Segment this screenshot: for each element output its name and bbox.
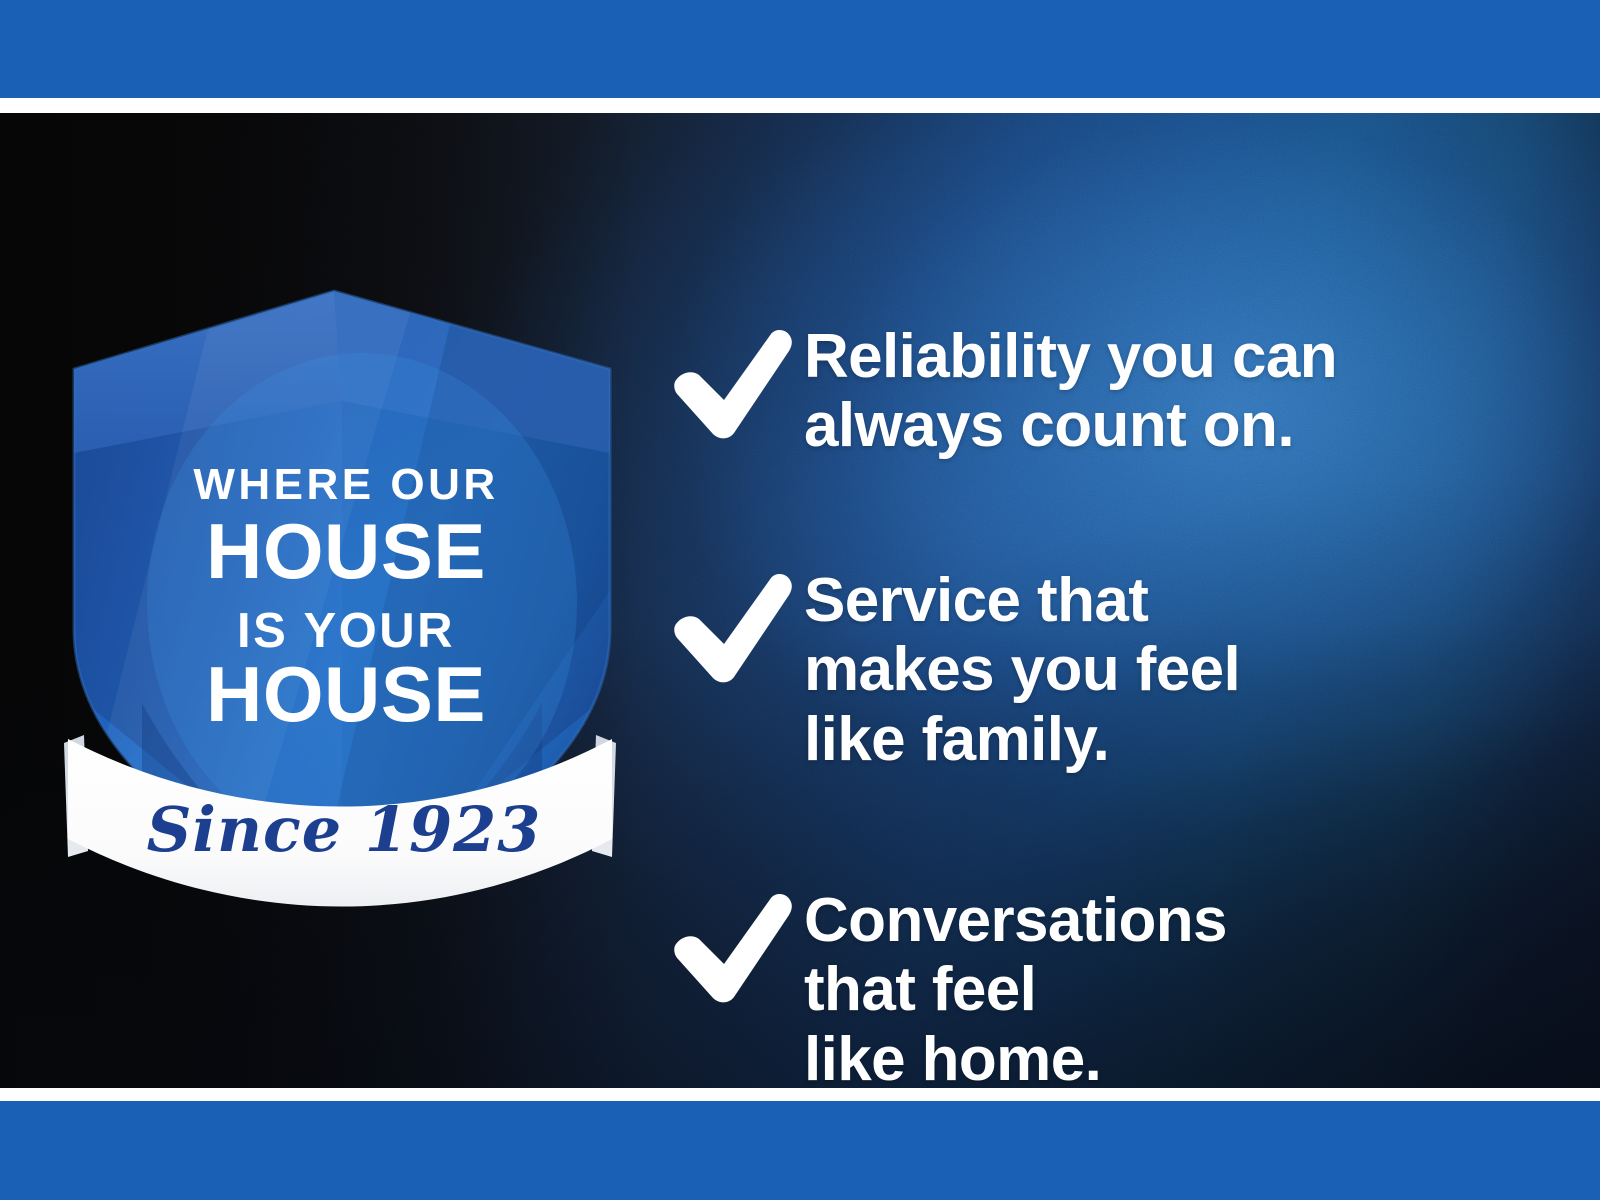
list-item-label: Conversations that feel like home. xyxy=(804,886,1532,1088)
checkmark-icon xyxy=(672,322,804,440)
list-item-label: Reliability you can always count on. xyxy=(804,322,1532,461)
list-item: Conversations that feel like home. xyxy=(672,886,1532,1088)
promo-poster: WHERE OUR HOUSE IS YOUR HOUSE Since 1923 xyxy=(0,0,1600,1200)
list-item: Reliability you can always count on. xyxy=(672,322,1532,461)
logo-line-1: WHERE OUR xyxy=(193,460,498,509)
list-item: Service that makes you feel like family. xyxy=(672,566,1532,774)
poster-stage: WHERE OUR HOUSE IS YOUR HOUSE Since 1923 xyxy=(0,113,1600,1088)
bottom-brand-band xyxy=(0,1101,1600,1200)
benefits-list: Reliability you can always count on. Ser… xyxy=(672,226,1532,1088)
checkmark-icon xyxy=(672,886,804,1004)
list-item-label: Service that makes you feel like family. xyxy=(804,566,1532,774)
top-brand-band xyxy=(0,0,1600,98)
checkmark-icon xyxy=(672,566,804,684)
logo-line-2: HOUSE xyxy=(206,507,486,595)
logo-line-4: HOUSE xyxy=(206,650,486,738)
shield-logo: WHERE OUR HOUSE IS YOUR HOUSE Since 1923 xyxy=(62,273,622,913)
top-white-divider xyxy=(0,98,1600,113)
logo-ribbon-text: Since 1923 xyxy=(147,793,542,866)
bottom-white-divider xyxy=(0,1088,1600,1101)
